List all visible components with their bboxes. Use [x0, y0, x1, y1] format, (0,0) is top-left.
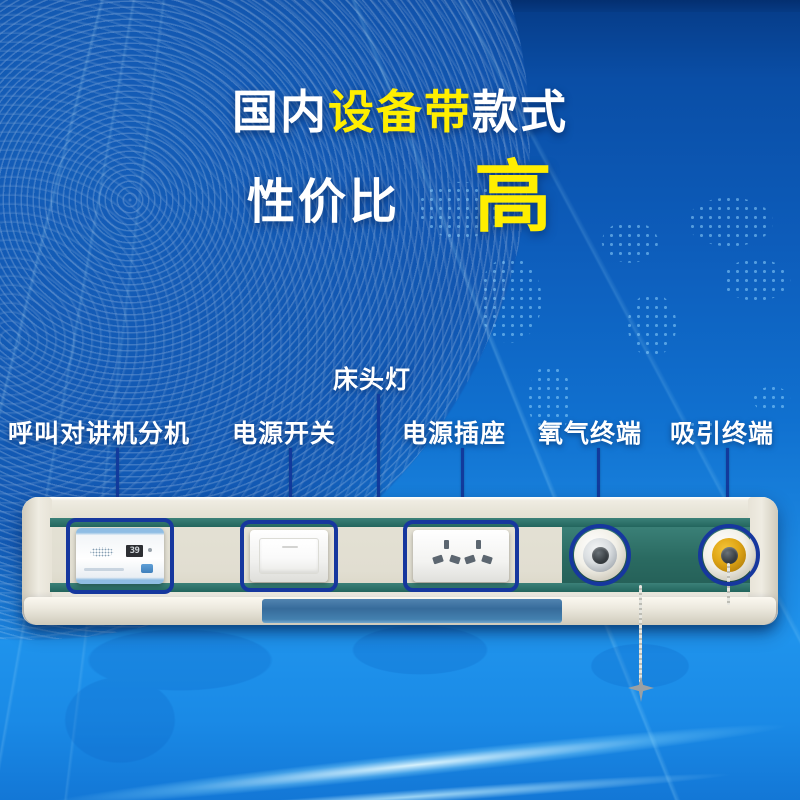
intercom-led-indicator: [148, 548, 152, 552]
panel-blue-reflector: [262, 599, 562, 623]
intercom-slot: [84, 568, 124, 571]
suction-terminal-core: [721, 547, 738, 564]
intercom-speaker-grille-icon: [86, 545, 118, 559]
power-outlet-plate[interactable]: [413, 530, 509, 582]
oxygen-terminal-outlet[interactable]: [574, 529, 626, 581]
promo-banner: 国内设备带款式 性价比 高 呼叫对讲机分机 电源开关 床头灯 电源插座 氧气终端…: [0, 0, 800, 800]
device-panel-photo: 39: [0, 0, 800, 800]
switch-mark: [282, 546, 298, 548]
pull-cord-short[interactable]: [727, 563, 730, 605]
intercom-call-button[interactable]: [141, 564, 153, 573]
oxygen-terminal-ring: [583, 538, 617, 572]
power-switch-plate[interactable]: [250, 530, 328, 582]
outlet-socket-left[interactable]: [431, 540, 463, 570]
intercom-display: 39: [126, 545, 143, 557]
outlet-socket-right[interactable]: [463, 540, 495, 570]
panel-stripe-top: [50, 518, 750, 527]
nurse-call-intercom[interactable]: 39: [76, 528, 164, 584]
pull-cord-long[interactable]: [639, 585, 642, 683]
pull-cord-weight-icon: [628, 676, 654, 702]
panel-stripe-bottom: [50, 583, 750, 592]
oxygen-terminal-core: [592, 547, 609, 564]
power-switch-rocker[interactable]: [259, 538, 319, 574]
